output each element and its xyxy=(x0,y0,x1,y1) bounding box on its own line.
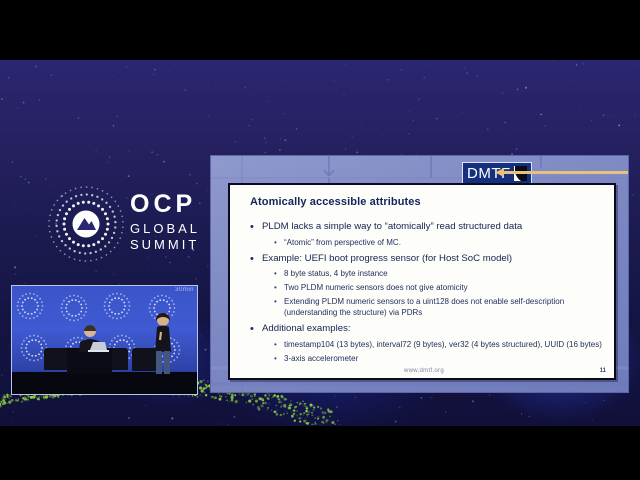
presentation-slide-panel[interactable]: DMTF Atomically accessible attributes •P… xyxy=(211,156,628,392)
slide-bullet-l1: •PLDM lacks a simple way to “atomically”… xyxy=(247,221,607,234)
slide-bullet-l2: •Two PLDM numeric sensors does not give … xyxy=(247,282,607,293)
chair-left xyxy=(44,348,69,370)
slide-content-area: Atomically accessible attributes •PLDM l… xyxy=(228,183,616,380)
screenshot-root: OCP GLOBAL SUMMIT xyxy=(0,0,640,480)
bullet-text: 3-axis accelerometer xyxy=(284,353,358,364)
bullet-glyph: • xyxy=(274,237,278,248)
slide-page-number: 11 xyxy=(600,368,606,374)
laptop-on-table xyxy=(86,340,110,352)
bullet-glyph: • xyxy=(274,282,278,293)
ocp-logo-wordmark: OCP GLOBAL SUMMIT xyxy=(130,192,200,251)
slide-bullet-l1: •Example: UEFI boot progress sensor (for… xyxy=(247,253,607,266)
bullet-text: Extending PLDM numeric sensors to a uint… xyxy=(284,296,607,318)
bullet-text: Example: UEFI boot progress sensor (for … xyxy=(262,253,512,266)
bullet-text: timestamp104 (13 bytes), interval72 (9 b… xyxy=(284,339,602,350)
bullet-glyph: • xyxy=(274,296,278,318)
slide-title: Atomically accessible attributes xyxy=(250,196,421,208)
video-timer-overlay: 30min xyxy=(175,287,194,293)
bullet-glyph: • xyxy=(250,253,255,266)
bullet-glyph: • xyxy=(274,353,278,364)
mountain-in-circle-icon xyxy=(46,184,126,264)
bullet-glyph: • xyxy=(274,339,278,350)
bullet-text: “Atomic” from perspective of MC. xyxy=(284,237,401,248)
bullet-glyph: • xyxy=(274,268,278,279)
video-content-band: OCP GLOBAL SUMMIT xyxy=(0,60,640,426)
gold-left-arrow-icon xyxy=(495,168,628,177)
standing-speaker xyxy=(150,312,176,374)
bullet-text: PLDM lacks a simple way to “atomically” … xyxy=(262,221,522,234)
slide-bullet-l2: •timestamp104 (13 bytes), interval72 (9 … xyxy=(247,339,607,350)
bullet-text: 8 byte status, 4 byte instance xyxy=(284,268,388,279)
ocp-logo-line1: OCP xyxy=(130,192,200,217)
slide-bullet-l1: •Additional examples: xyxy=(247,323,607,336)
slide-bullet-l2: •“Atomic” from perspective of MC. xyxy=(247,237,607,248)
bullet-glyph: • xyxy=(250,221,255,234)
ocp-logo-line3: SUMMIT xyxy=(130,238,200,251)
slide-bullet-list: •PLDM lacks a simple way to “atomically”… xyxy=(247,216,607,364)
ocp-logo-line2: GLOBAL xyxy=(130,222,200,235)
slide-bullet-l2: •Extending PLDM numeric sensors to a uin… xyxy=(247,296,607,318)
stage-floor xyxy=(12,372,198,394)
bullet-glyph: • xyxy=(250,323,255,336)
speaker-video-inset[interactable]: 30min xyxy=(11,285,198,395)
slide-bullet-l2: •8 byte status, 4 byte instance xyxy=(247,268,607,279)
bullet-text: Two PLDM numeric sensors does not give a… xyxy=(284,282,468,293)
ocp-global-summit-logo: OCP GLOBAL SUMMIT xyxy=(46,184,196,264)
bullet-text: Additional examples: xyxy=(262,323,351,336)
slide-footer-url: www.dmtf.org xyxy=(230,368,616,374)
slide-bullet-l2: •3-axis accelerometer xyxy=(247,353,607,364)
